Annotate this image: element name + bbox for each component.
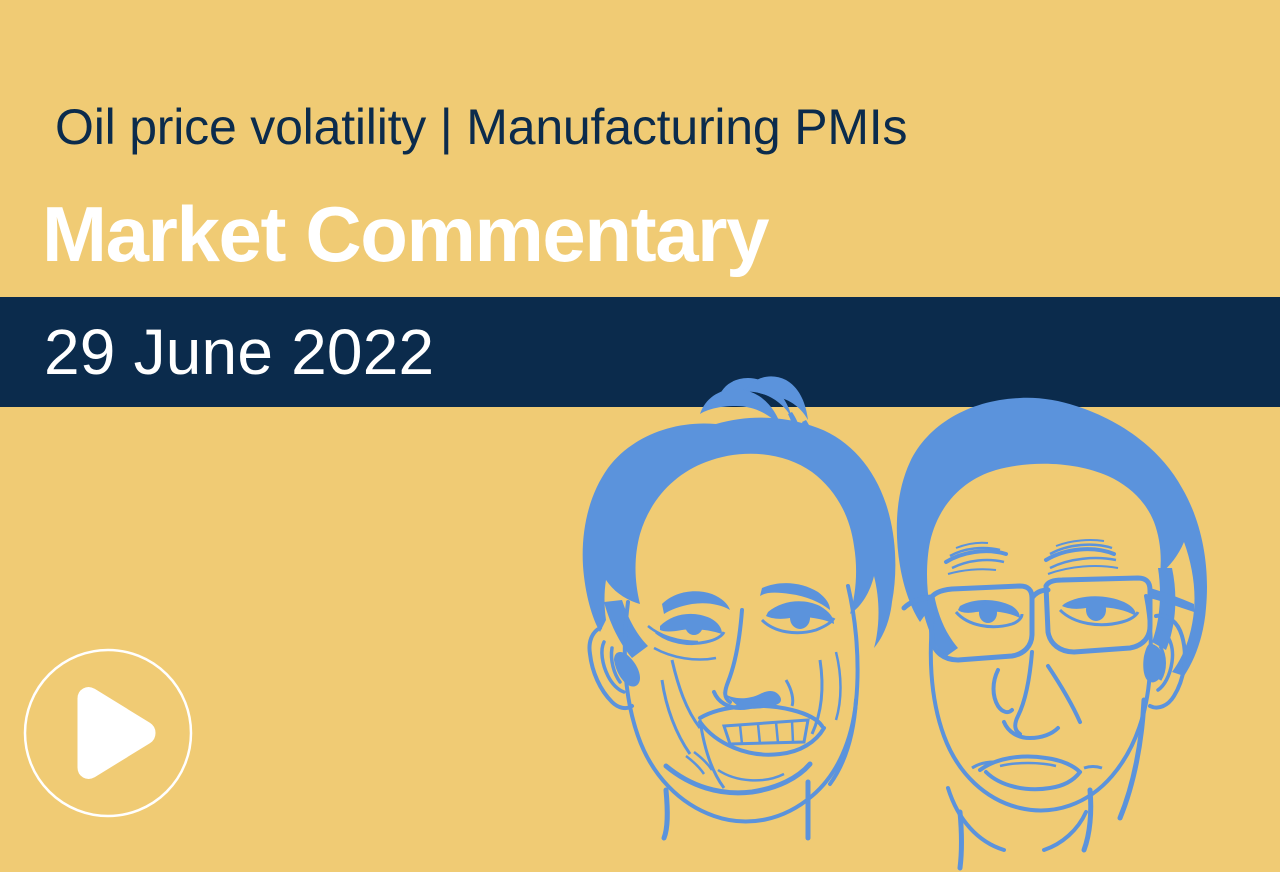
market-commentary-card: Oil price volatility | Manufacturing PMI… [0,0,1280,872]
presenter-left-illustration [583,376,896,838]
publication-date: 29 June 2022 [44,307,434,397]
play-triangle-icon [82,692,151,775]
play-button[interactable] [23,648,193,818]
page-title: Market Commentary [42,186,768,282]
card-subtitle: Oil price volatility | Manufacturing PMI… [55,95,907,159]
presenter-right-illustration [897,398,1207,868]
